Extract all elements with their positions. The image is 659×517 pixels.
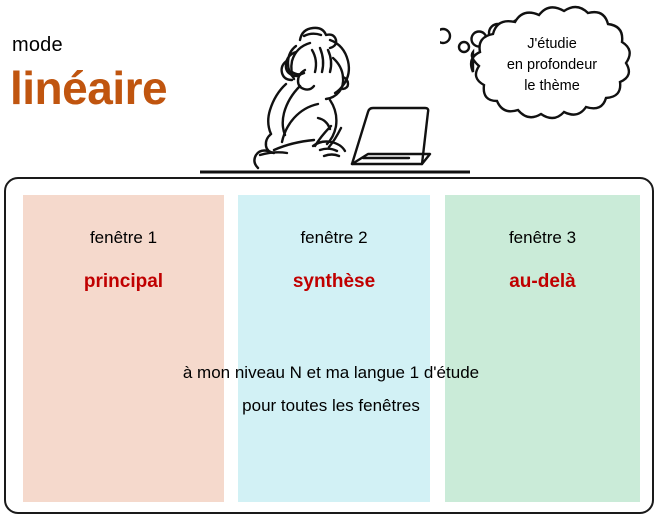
- column-2-head: fenêtre 2: [238, 227, 430, 249]
- mode-label: mode: [12, 33, 63, 57]
- windows-card: fenêtre 1 principal fenêtre 2 synthèse f…: [4, 177, 654, 514]
- thought-line-1: J'étudie: [472, 34, 632, 55]
- column-3-head: fenêtre 3: [445, 227, 640, 249]
- column-2-name: synthèse: [238, 270, 430, 294]
- column-1-name: principal: [23, 270, 224, 294]
- header: mode linéaire: [0, 0, 659, 178]
- column-fenetre-2[interactable]: fenêtre 2 synthèse: [238, 195, 430, 502]
- mode-title: linéaire: [10, 62, 167, 114]
- column-fenetre-1[interactable]: fenêtre 1 principal: [23, 195, 224, 502]
- thought-line-2: en profondeur: [472, 55, 632, 76]
- column-1-head: fenêtre 1: [23, 227, 224, 249]
- thought-line-3: le thème: [472, 76, 632, 97]
- student-studying-at-laptop-icon: [200, 0, 470, 178]
- column-fenetre-3[interactable]: fenêtre 3 au-delà: [445, 195, 640, 502]
- column-3-name: au-delà: [445, 270, 640, 294]
- thought-bubble-text: J'étudie en profondeur le thème: [472, 34, 632, 97]
